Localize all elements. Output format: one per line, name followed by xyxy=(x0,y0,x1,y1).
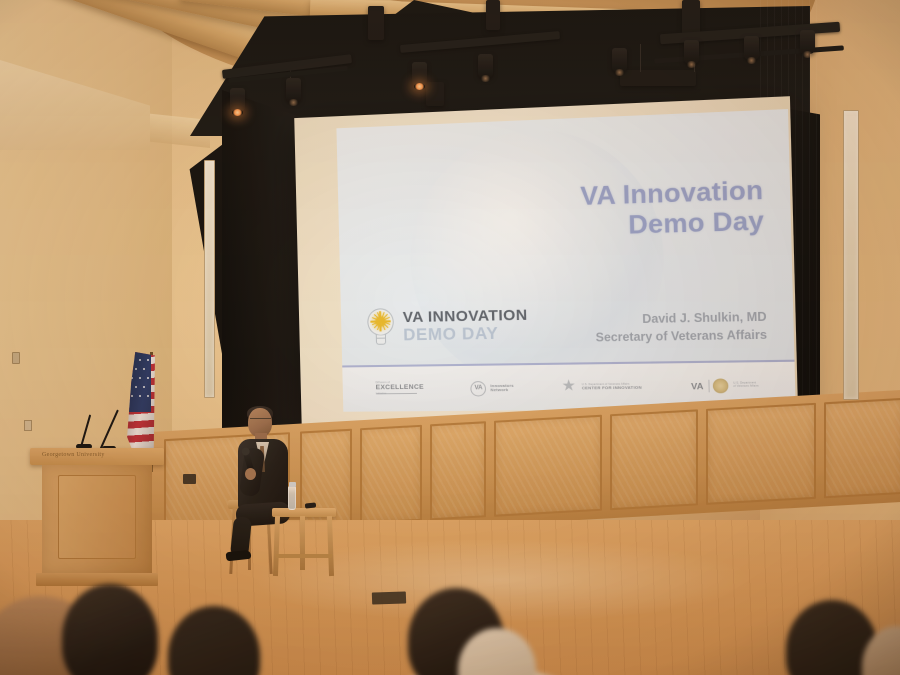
presentation-slide: VA Innovation Demo Day David J. Shulkin,… xyxy=(336,109,795,412)
inet-line2: Network xyxy=(490,388,514,393)
lightbulb-sunburst-icon xyxy=(365,308,396,347)
audience-foreground xyxy=(0,540,900,675)
vadept-line2: of Veterans Affairs xyxy=(733,386,758,389)
wood-wall-panel xyxy=(610,409,698,510)
presenter-hand xyxy=(245,468,256,480)
lectern-engraving: Georgetown University xyxy=(42,452,105,458)
wall-vent xyxy=(183,474,196,484)
wall-outlet-plate xyxy=(24,420,32,431)
wall-fixture xyxy=(12,352,20,364)
wood-wall-panel xyxy=(430,421,486,520)
star-icon xyxy=(561,380,577,396)
stage-light xyxy=(412,62,427,86)
eyeglasses-icon xyxy=(250,418,271,422)
footer-logo-diffusion-of-excellence: Diffusion of EXCELLENCE Initiative xyxy=(376,382,425,397)
slide-watermark xyxy=(408,125,667,389)
footer-logo-innovators-network: VA Innovators Network xyxy=(470,380,514,396)
doe-title: EXCELLENCE xyxy=(376,384,424,391)
wood-wall-panel xyxy=(706,403,816,505)
hanging-speaker xyxy=(426,82,444,106)
lectern-top: Georgetown University xyxy=(30,448,164,465)
va-wordmark: VA xyxy=(691,381,704,392)
cfi-title: CENTER FOR INNOVATION xyxy=(582,386,642,391)
water-bottle xyxy=(288,486,296,510)
rigging-wire xyxy=(640,44,641,72)
hanging-speaker xyxy=(368,6,384,40)
wood-wall-panel xyxy=(494,415,602,517)
doe-small-bottom: Initiative xyxy=(376,393,424,396)
stage-light xyxy=(800,30,815,54)
light-bar xyxy=(620,70,696,86)
stage-light xyxy=(230,88,245,112)
audience-head xyxy=(168,606,260,675)
bottle-cap xyxy=(289,482,296,487)
wood-wall-panel xyxy=(360,425,422,524)
stage-light xyxy=(478,54,493,78)
wall-window-right xyxy=(843,110,859,400)
stage-light xyxy=(744,36,759,60)
wall-window-left xyxy=(204,160,215,398)
stage-light xyxy=(684,40,699,64)
footer-logo-center-for-innovation: U.S. Department of Veterans Affairs CENT… xyxy=(561,379,642,395)
wood-wall-panel xyxy=(824,398,900,498)
stage-light xyxy=(612,48,627,72)
footer-logo-va-department: VA U.S. Department of Veterans Affairs xyxy=(691,378,759,393)
logo-line2: DEMO DAY xyxy=(403,325,528,344)
ceiling-corner xyxy=(0,60,150,150)
byline-role: Secretary of Veterans Affairs xyxy=(596,327,768,348)
slide-title-line2: Demo Day xyxy=(581,206,765,242)
audience-head xyxy=(62,584,158,675)
slide-byline: David J. Shulkin, MD Secretary of Vetera… xyxy=(595,309,767,348)
auditorium-photo-scene: VA Innovation Demo Day David J. Shulkin,… xyxy=(0,0,900,675)
va-circle-icon: VA xyxy=(470,381,486,396)
logo-line1: VA INNOVATION xyxy=(403,308,528,326)
va-seal-icon xyxy=(713,378,729,393)
stage-light xyxy=(286,78,301,102)
hanging-speaker xyxy=(486,0,500,30)
slide-title: VA Innovation Demo Day xyxy=(580,176,764,242)
demo-day-logo: VA INNOVATION DEMO DAY xyxy=(365,305,528,347)
projection-screen: VA Innovation Demo Day David J. Shulkin,… xyxy=(294,96,798,428)
